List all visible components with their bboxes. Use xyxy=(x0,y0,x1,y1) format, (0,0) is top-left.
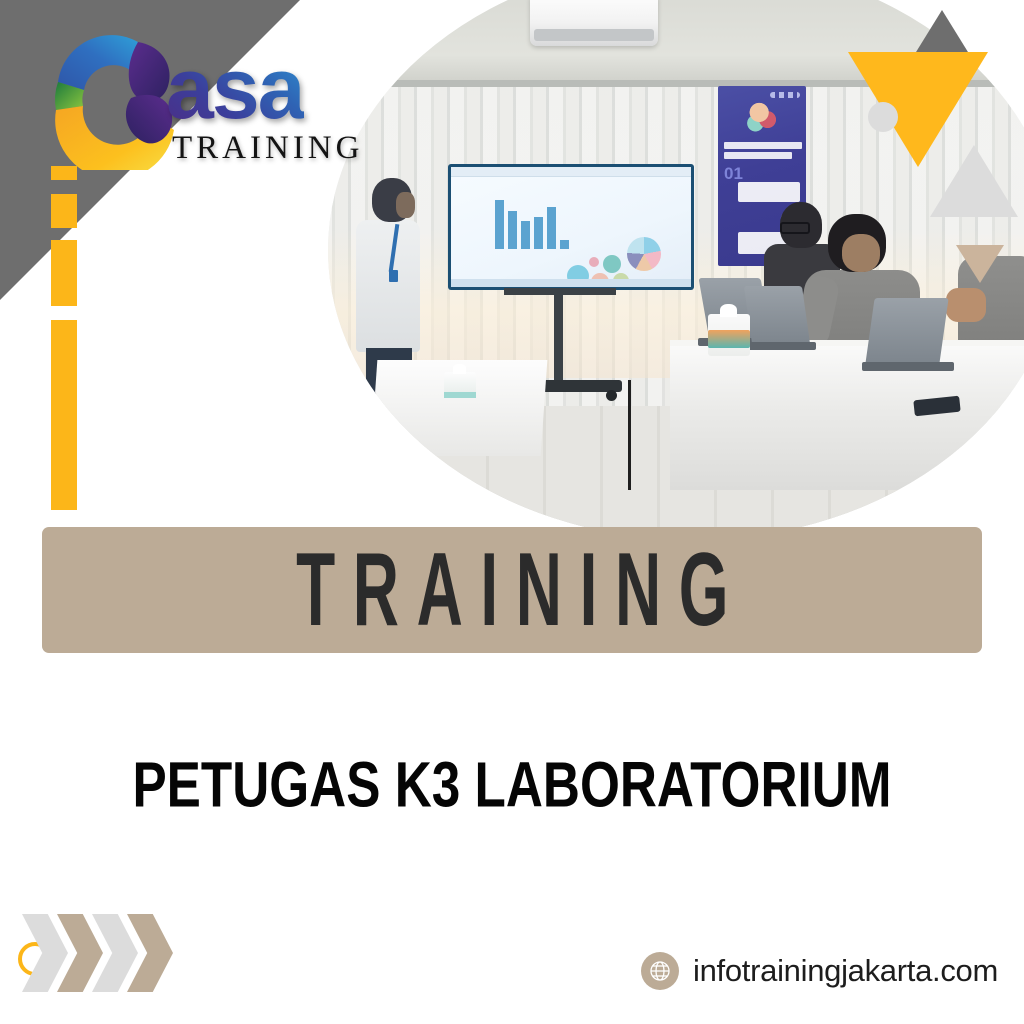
website-url-text: infotrainingjakarta.com xyxy=(693,953,998,989)
screen-bar-chart xyxy=(495,197,569,249)
logo-wordmark: asa xyxy=(166,53,304,127)
screen-bubble-2 xyxy=(589,257,599,267)
logo-subtitle: TRAINING xyxy=(172,130,363,167)
laptop-3-base xyxy=(862,362,954,371)
air-conditioner-icon xyxy=(530,0,658,46)
presenter-shirt xyxy=(356,220,420,352)
screen-bar-4 xyxy=(534,217,543,249)
screen-bar-2 xyxy=(508,211,517,249)
laptop-2 xyxy=(744,286,810,344)
screen-stand-post xyxy=(554,290,563,386)
laptop-2-base xyxy=(742,342,816,350)
stand-wheel-right xyxy=(606,390,617,401)
screen-toolbar xyxy=(451,167,691,177)
screen-bubble-3 xyxy=(603,255,621,273)
participant-3-face xyxy=(842,234,880,272)
decor-triangle-light-icon xyxy=(930,145,1018,217)
presentation-screen xyxy=(448,164,694,290)
poster-canvas: 01 02 xyxy=(0,0,1024,1024)
tissue-box-left xyxy=(444,372,476,398)
screen-content xyxy=(451,167,691,287)
screen-bar-1 xyxy=(495,200,504,249)
course-title: PETUGAS K3 LABORATORIUM xyxy=(51,748,973,822)
participant-4-arm xyxy=(946,288,986,322)
decor-circle-grey-icon xyxy=(868,102,898,132)
screen-bar-5 xyxy=(547,207,556,249)
screen-bar-6 xyxy=(560,240,569,249)
banner-headline-line2 xyxy=(724,152,792,159)
decor-dash-3 xyxy=(51,240,77,306)
decor-triangle-tan-icon xyxy=(956,245,1004,283)
training-banner-title: TRAINING xyxy=(278,530,746,650)
banner-illustration xyxy=(744,98,782,134)
photo-cable-1 xyxy=(628,380,631,490)
circular-c-logo-icon xyxy=(34,18,186,170)
screen-pie-chart xyxy=(627,237,661,271)
footer-website[interactable]: infotrainingjakarta.com xyxy=(641,952,998,990)
participant-2-glasses xyxy=(780,222,810,234)
banner-number-01: 01 xyxy=(724,164,743,184)
training-banner: TRAINING xyxy=(42,527,982,653)
tissue-box-right xyxy=(708,314,750,356)
banner-headline-line1 xyxy=(724,142,802,149)
laptop-3 xyxy=(865,298,948,364)
screen-bar-3 xyxy=(521,221,530,249)
presenter-face xyxy=(396,192,415,218)
decor-dash-4 xyxy=(51,320,77,510)
decor-dash-2 xyxy=(51,194,77,228)
presenter-badge xyxy=(389,270,398,282)
photo-table-right xyxy=(670,340,1024,490)
screen-taskbar xyxy=(451,279,691,287)
globe-icon xyxy=(641,952,679,990)
banner-card-1 xyxy=(738,182,800,202)
